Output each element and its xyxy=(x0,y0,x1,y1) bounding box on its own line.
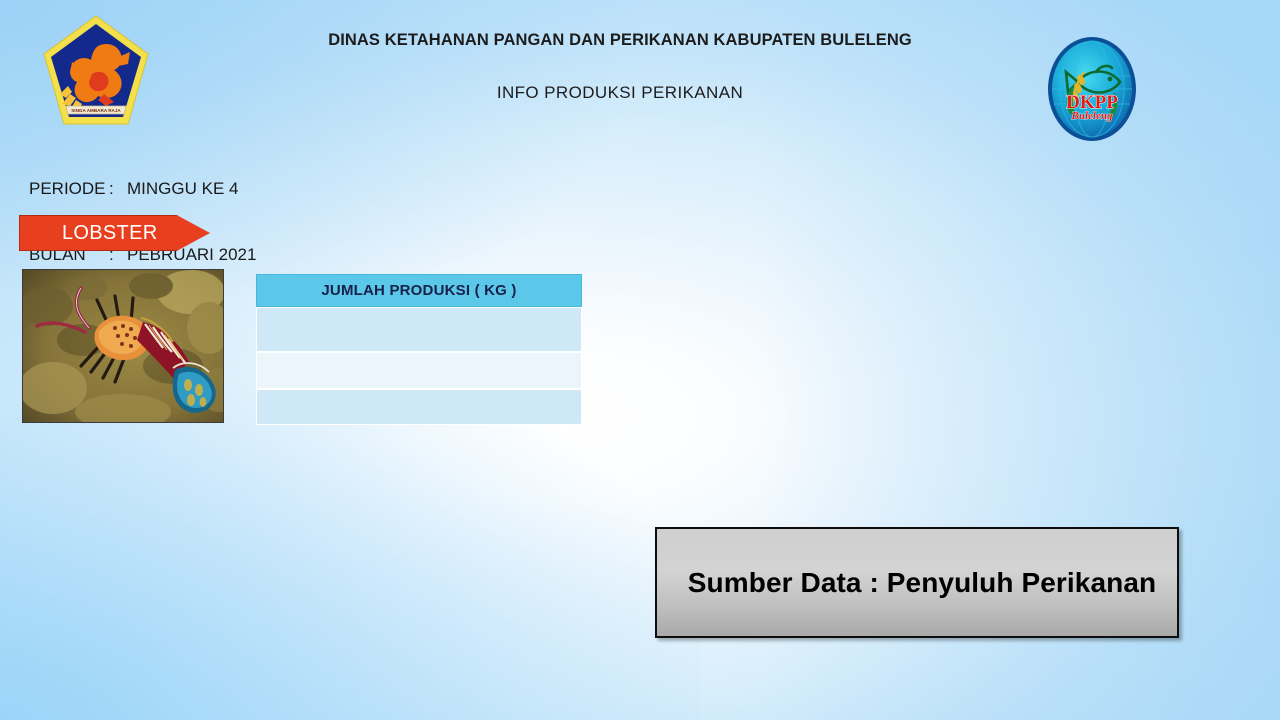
category-banner-label: LOBSTER xyxy=(20,222,157,245)
dkpp-buleleng-logo-icon: DKPP Buleleng xyxy=(1046,34,1138,144)
header-titles: DINAS KETAHANAN PANGAN DAN PERIKANAN KAB… xyxy=(200,30,1040,103)
period-info-block: PERIODE : MINGGU KE 4 BULAN : PEBRUARI 2… xyxy=(29,134,256,288)
production-value-cell xyxy=(257,353,581,388)
period-row-periode: PERIODE : MINGGU KE 4 xyxy=(29,178,256,200)
table-row[interactable] xyxy=(256,389,582,425)
source-data-text: Sumber Data : Penyuluh Perikanan xyxy=(657,567,1177,599)
period-colon-periode: : xyxy=(109,178,127,200)
period-value-periode: MINGGU KE 4 xyxy=(127,178,238,200)
table-row[interactable] xyxy=(256,352,582,389)
production-table: JUMLAH PRODUKSI ( KG ) xyxy=(256,274,582,425)
production-table-header-label: JUMLAH PRODUKSI ( KG ) xyxy=(321,282,516,299)
table-row[interactable] xyxy=(256,307,582,352)
period-label-periode: PERIODE xyxy=(29,178,109,200)
svg-text:SINGA AMBARA RAJA: SINGA AMBARA RAJA xyxy=(71,108,121,113)
production-value-cell xyxy=(257,308,581,351)
production-table-header: JUMLAH PRODUKSI ( KG ) xyxy=(256,274,582,307)
category-banner-lobster[interactable]: LOBSTER xyxy=(19,215,210,251)
lobster-photo xyxy=(22,269,224,423)
buleleng-regency-emblem-icon: SINGA AMBARA RAJA xyxy=(40,12,152,132)
document-title: INFO PRODUKSI PERIKANAN xyxy=(200,83,1040,103)
source-data-box: Sumber Data : Penyuluh Perikanan xyxy=(655,527,1179,638)
organization-title: DINAS KETAHANAN PANGAN DAN PERIKANAN KAB… xyxy=(200,30,1040,51)
dkpp-logo-sub-text: Buleleng xyxy=(1071,110,1113,122)
production-value-cell xyxy=(257,390,581,424)
